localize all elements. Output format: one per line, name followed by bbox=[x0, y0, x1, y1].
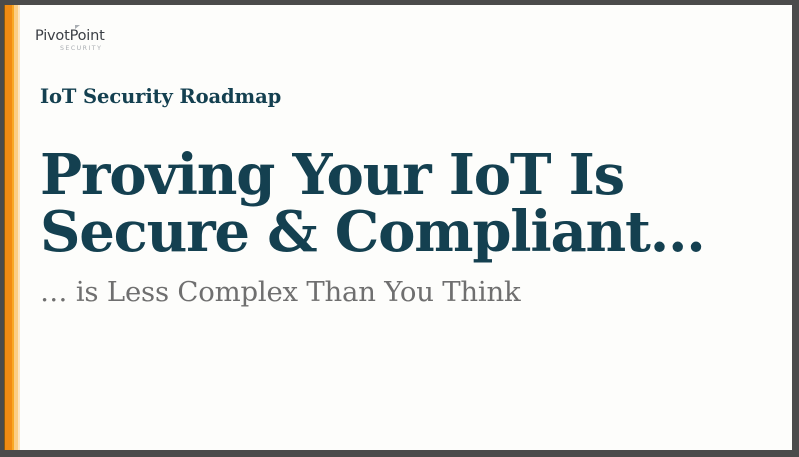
slide-subtitle: … is Less Complex Than You Think bbox=[40, 276, 521, 308]
slide-frame: PivotPoint SECURITY IoT Security Roadmap… bbox=[0, 0, 799, 457]
triangle-flag-icon bbox=[75, 25, 80, 29]
slide-title-line-1: Proving Your IoT Is bbox=[40, 147, 705, 204]
slide-eyebrow: IoT Security Roadmap bbox=[40, 85, 281, 108]
left-accent-bar bbox=[4, 5, 21, 450]
slide-content: PivotPoint SECURITY IoT Security Roadmap… bbox=[35, 5, 792, 450]
logo-word-point: Point bbox=[70, 28, 105, 44]
presentation-slide: PivotPoint SECURITY IoT Security Roadmap… bbox=[4, 5, 792, 450]
slide-title: Proving Your IoT Is Secure & Compliant… bbox=[40, 147, 705, 261]
logo-wordmark: PivotPoint bbox=[35, 29, 105, 44]
slide-title-line-2: Secure & Compliant… bbox=[40, 204, 705, 261]
logo-word-pivot: Pivot bbox=[35, 28, 70, 44]
logo-tagline: SECURITY bbox=[60, 46, 105, 52]
pivotpoint-security-logo: PivotPoint SECURITY bbox=[35, 29, 105, 52]
